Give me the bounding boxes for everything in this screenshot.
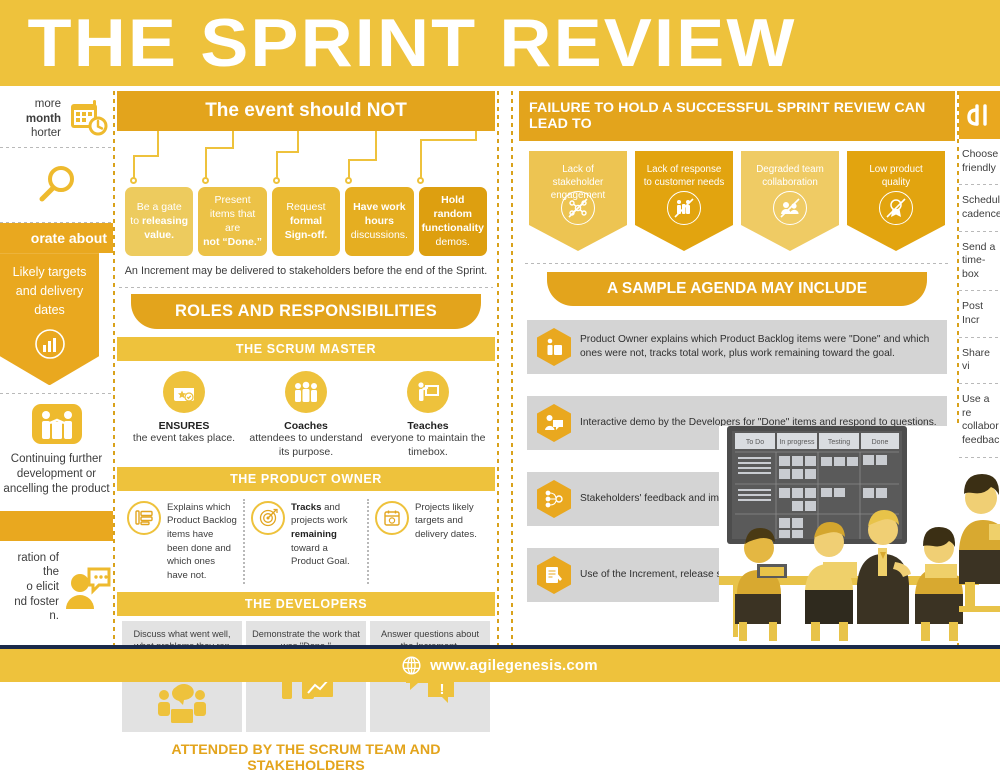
product-owner-desc-3: Projects likely targets and delivery dat… bbox=[415, 501, 485, 542]
scrum-master-desc-2: attendees to understand its purpose. bbox=[245, 432, 367, 458]
presenter-chart-icon bbox=[537, 328, 571, 366]
scrum-master-title-3: Teaches bbox=[367, 420, 489, 432]
footer-bar: www.agilegenesis.com bbox=[0, 649, 1000, 682]
not-connector-tree bbox=[117, 131, 495, 187]
right-row-5: Share vi bbox=[959, 338, 1000, 383]
no-network-icon bbox=[561, 191, 595, 225]
product-owner-band: THE PRODUCT OWNER bbox=[117, 467, 495, 491]
no-quality-badge-icon bbox=[879, 191, 913, 225]
failure-shield-3: Degraded teamcollaboration bbox=[741, 151, 839, 251]
meeting-table-icon bbox=[152, 681, 212, 727]
left-band-heading: orate about bbox=[0, 223, 113, 253]
svg-text:In progress: In progress bbox=[779, 439, 815, 446]
developers-band: THE DEVELOPERS bbox=[117, 592, 495, 616]
left-row3-text: Continuing furtherdevelopment orancellin… bbox=[0, 450, 113, 498]
team-illustration: To DoIn progress TestingDone bbox=[719, 426, 979, 641]
left-row1-text: moremonthhorter bbox=[26, 97, 61, 141]
demo-screen-icon bbox=[537, 404, 571, 442]
not-box-3: RequestformalSign-off. bbox=[272, 187, 340, 256]
right-row-1: Choosefriendly bbox=[959, 139, 1000, 184]
right-row-3: Send atime-box bbox=[959, 232, 1000, 291]
page-title: THE SPRINT REVIEW bbox=[0, 9, 796, 77]
page-title-banner: THE SPRINT REVIEW bbox=[0, 0, 1000, 86]
scrum-master-title-2: Coaches bbox=[245, 420, 367, 432]
left-shield-card: Likely targetsand deliverydates bbox=[0, 253, 99, 385]
not-section-heading: The event should NOT bbox=[117, 91, 495, 131]
product-owner-desc-1: Explains which Product Backlog items hav… bbox=[167, 501, 237, 583]
scrum-master-items: ENSURES the event takes place. Coaches a… bbox=[117, 361, 495, 466]
right-row-2: Schedulcadence bbox=[959, 185, 1000, 230]
failure-shield-2: Lack of responseto customer needs bbox=[635, 151, 733, 251]
agenda-text-1: Product Owner explains which Product Bac… bbox=[580, 333, 937, 362]
magnifier-icon bbox=[34, 162, 80, 208]
scrum-master-item-2: Coaches attendees to understand its purp… bbox=[245, 371, 367, 458]
feedback-flow-icon bbox=[537, 480, 571, 518]
left-shield-text: Likely targetsand deliverydates bbox=[13, 265, 87, 317]
presenter-board-icon bbox=[407, 371, 449, 413]
right-row-6: Use a recollaborfeedbac bbox=[959, 384, 1000, 457]
failure-shield-text-4: Low productquality bbox=[869, 164, 922, 188]
failure-shield-text-2: Lack of responseto customer needs bbox=[644, 164, 725, 188]
agenda-item-1: Product Owner explains which Product Bac… bbox=[527, 320, 947, 374]
calendar-clock-icon bbox=[69, 99, 109, 139]
no-customer-icon bbox=[667, 191, 701, 225]
bar-chart-icon bbox=[35, 329, 65, 359]
not-boxes-row: Be a gateto releasingvalue. Presentitems… bbox=[117, 187, 495, 256]
scrum-master-band: THE SCRUM MASTER bbox=[117, 337, 495, 361]
right-band bbox=[959, 91, 1000, 139]
product-owner-item-2: Tracks and projects work remaining towar… bbox=[243, 499, 367, 585]
product-owner-desc-2: Tracks and projects work remaining towar… bbox=[291, 501, 361, 569]
link-icon bbox=[963, 100, 993, 130]
people-group-icon bbox=[285, 371, 327, 413]
product-owner-item-3: Projects likely targets and delivery dat… bbox=[367, 499, 491, 585]
left-row-feedback: ration of theo elicitnd fostern. bbox=[0, 541, 113, 635]
attended-footer: ATTENDED BY THE SCRUM TEAM AND STAKEHOLD… bbox=[117, 736, 495, 778]
scrum-master-item-1: ENSURES the event takes place. bbox=[123, 371, 245, 458]
failure-shields: Lack of stakeholderengagement Lack of re… bbox=[519, 141, 955, 251]
right-illustration bbox=[959, 468, 1000, 618]
right-column: FAILURE TO HOLD A SUCCESSFUL SPRINT REVI… bbox=[519, 91, 955, 645]
product-owner-items: Explains which Product Backlog items hav… bbox=[117, 491, 495, 593]
right-row-4: Post Incr bbox=[959, 291, 1000, 336]
failure-shield-text-3: Degraded teamcollaboration bbox=[756, 164, 824, 188]
center-column: The event should NOT Be bbox=[117, 91, 495, 645]
svg-text:To Do: To Do bbox=[746, 439, 764, 446]
calendar-star-icon bbox=[163, 371, 205, 413]
backlog-list-icon bbox=[127, 501, 161, 535]
left-band-2 bbox=[0, 511, 113, 541]
left-row-calendar: moremonthhorter bbox=[0, 91, 113, 147]
svg-text:Done: Done bbox=[872, 439, 889, 446]
target-dart-icon bbox=[251, 501, 285, 535]
left-row-magnifier bbox=[0, 148, 113, 222]
failure-shield-1: Lack of stakeholderengagement bbox=[529, 151, 627, 251]
svg-text:!: ! bbox=[440, 681, 445, 698]
left-row-handshake bbox=[0, 394, 113, 450]
release-document-icon bbox=[537, 556, 571, 594]
left-row4-text: ration of theo elicitnd fostern. bbox=[2, 551, 59, 625]
right-partial-column: Choosefriendly Schedulcadence Send atime… bbox=[959, 91, 1000, 645]
agenda-heading: A SAMPLE AGENDA MAY INCLUDE bbox=[547, 272, 927, 306]
divider-mid2 bbox=[511, 91, 513, 645]
product-owner-item-1: Explains which Product Backlog items hav… bbox=[121, 499, 243, 585]
not-box-4: Have workhoursdiscussions. bbox=[345, 187, 413, 256]
globe-icon bbox=[402, 656, 421, 675]
scrum-master-item-3: Teaches everyone to maintain the timebox… bbox=[367, 371, 489, 458]
scrum-master-desc-1: the event takes place. bbox=[123, 432, 245, 445]
scrum-master-desc-3: everyone to maintain the timebox. bbox=[367, 432, 489, 458]
failure-shield-4: Low productquality bbox=[847, 151, 945, 251]
calendar-target-icon bbox=[375, 501, 409, 535]
not-box-2: Presentitems that arenot “Done.” bbox=[198, 187, 266, 256]
left-partial-column: moremonthhorter orate about Likely targe… bbox=[0, 91, 113, 645]
no-collaboration-icon bbox=[773, 191, 807, 225]
divider-left bbox=[113, 91, 115, 645]
increment-note: An Increment may be delivered to stakeho… bbox=[117, 256, 495, 281]
svg-text:Testing: Testing bbox=[828, 439, 850, 446]
not-box-5: Hold randomfunctionalitydemos. bbox=[419, 187, 487, 256]
infographic-body: moremonthhorter orate about Likely targe… bbox=[0, 91, 1000, 645]
handshake-icon bbox=[30, 402, 84, 446]
divider-mid bbox=[497, 91, 499, 645]
footer-url: www.agilegenesis.com bbox=[430, 657, 598, 674]
not-box-1: Be a gateto releasingvalue. bbox=[125, 187, 193, 256]
scrum-master-title-1: ENSURES bbox=[123, 420, 245, 432]
failure-heading: FAILURE TO HOLD A SUCCESSFUL SPRINT REVI… bbox=[519, 91, 955, 141]
person-speech-bubble-icon bbox=[63, 563, 111, 611]
roles-heading: ROLES AND RESPONSIBILITIES bbox=[131, 294, 481, 329]
